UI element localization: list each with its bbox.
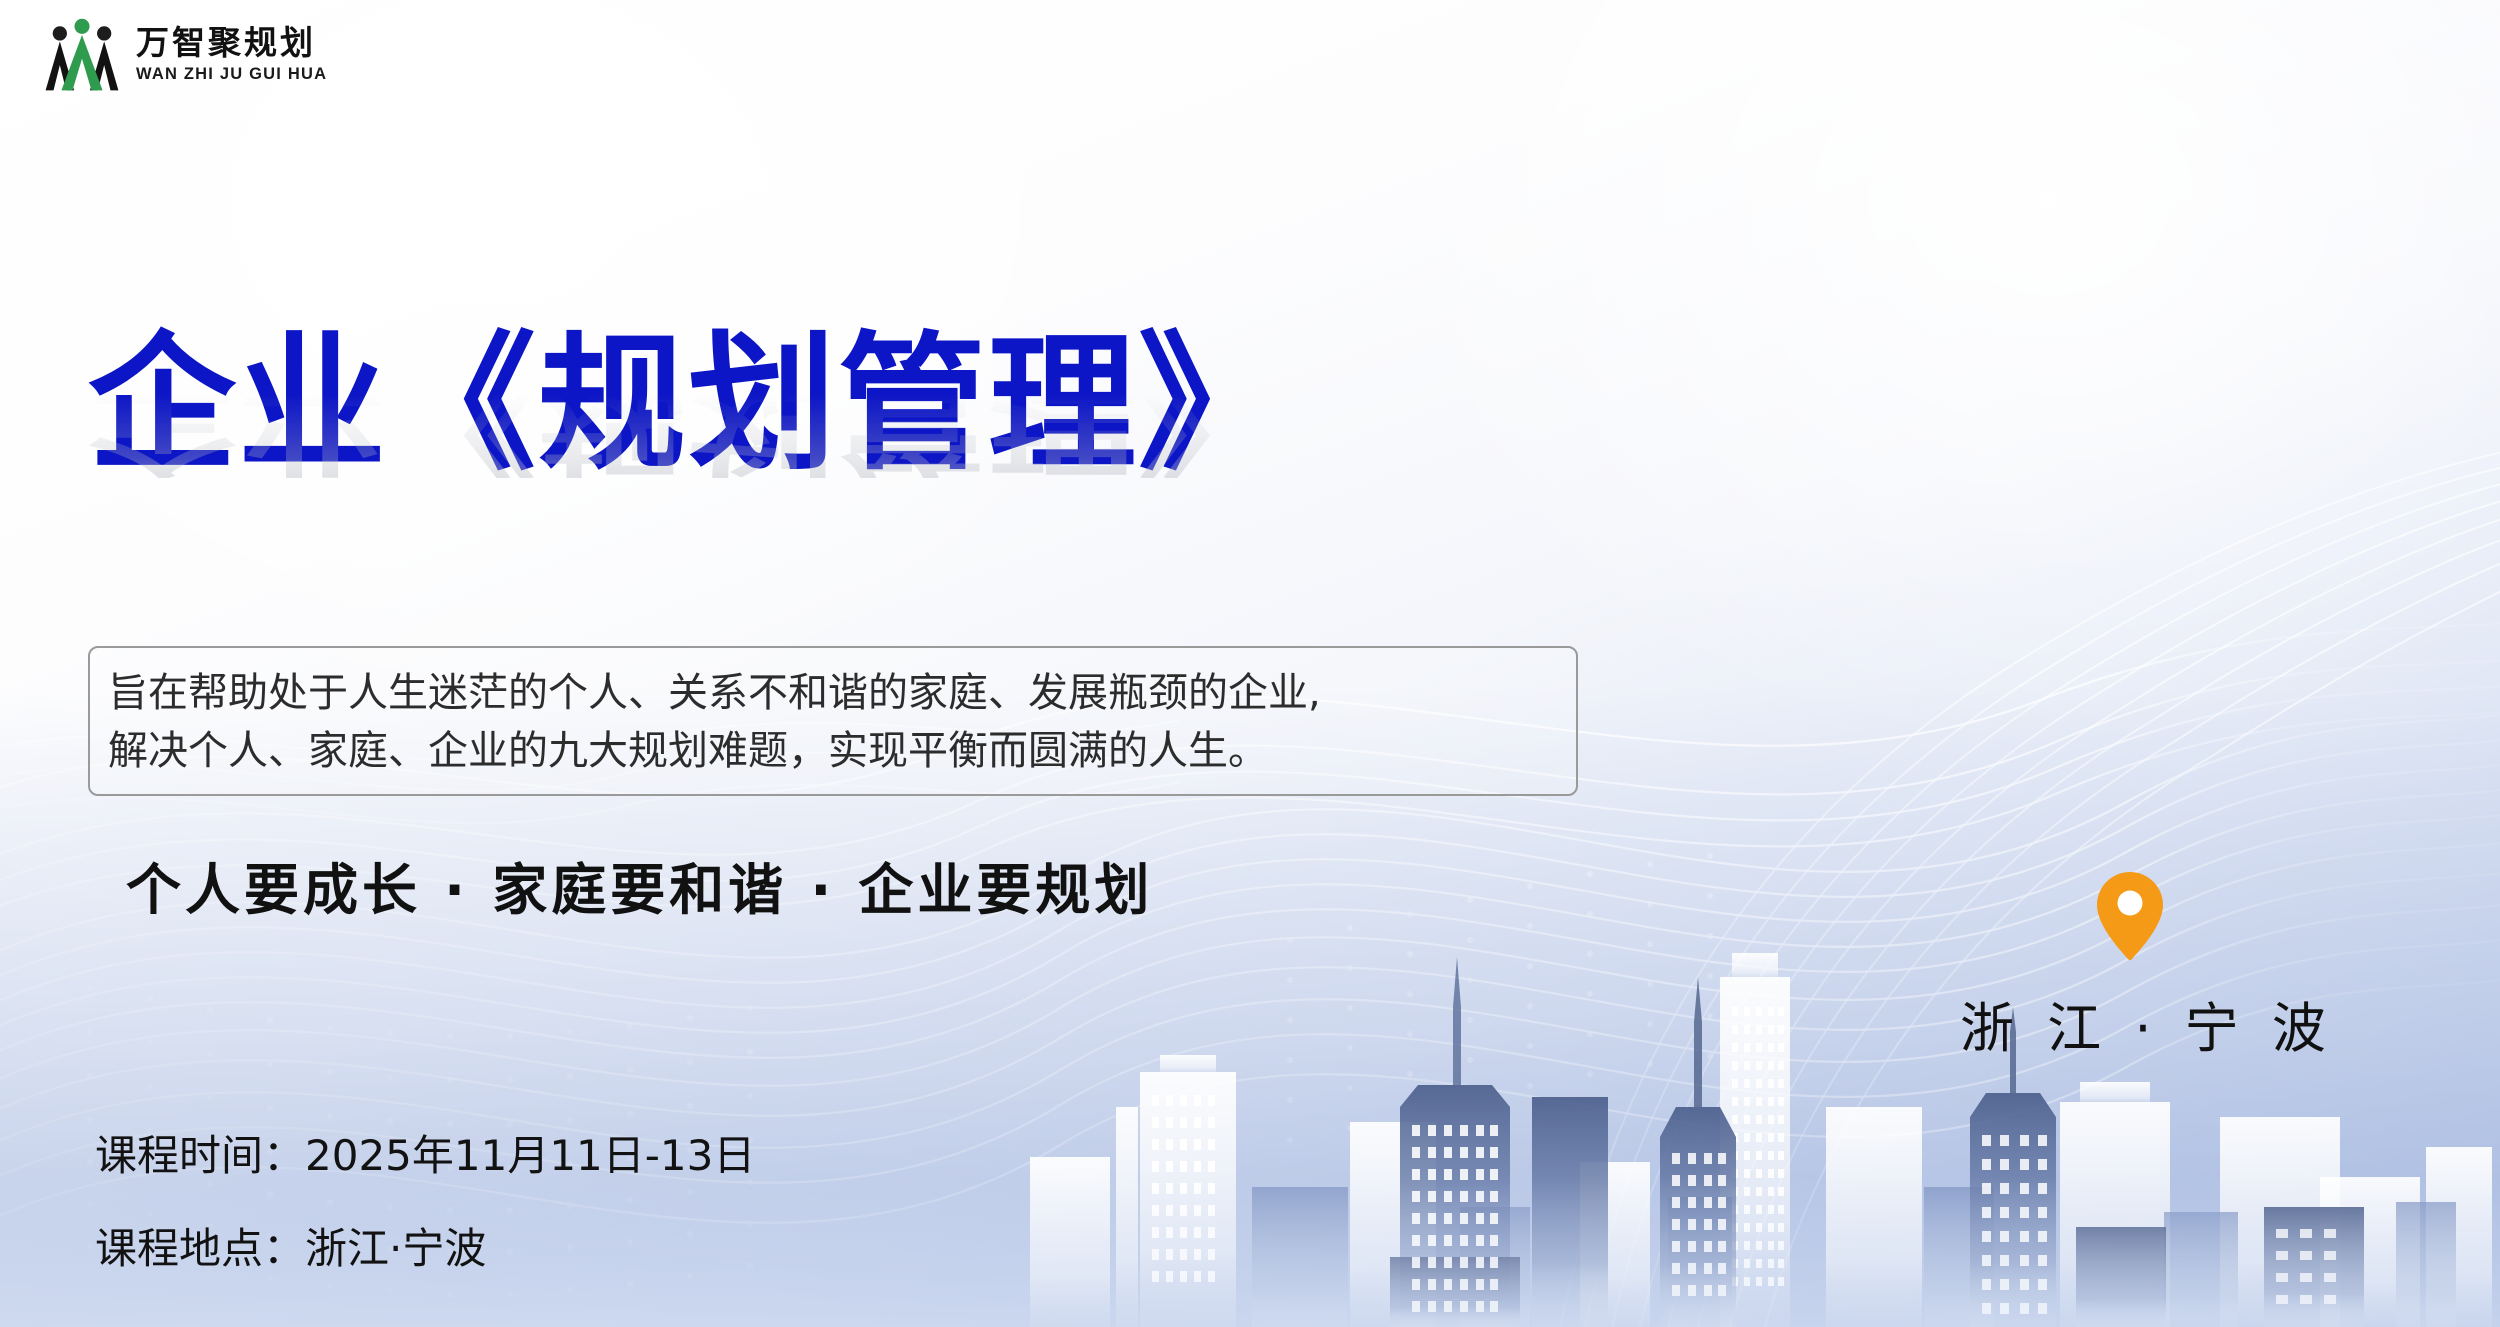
description-line-1: 旨在帮助处于人生迷茫的个人、关系不和谐的家庭、发展瓶颈的企业, bbox=[108, 664, 1558, 722]
location-badge: 浙 江 · 宁 波 bbox=[1960, 870, 2300, 1063]
poster-canvas: 万智聚规划 WAN ZHI JU GUI HUA 企业《规划管理》 企业《规划管… bbox=[0, 0, 2500, 1327]
hero-title-block: 企业《规划管理》 企业《规划管理》 bbox=[88, 330, 1288, 626]
course-place: 课程地点：浙江·宁波 bbox=[95, 1215, 755, 1276]
page-title-reflection: 企业《规划管理》 bbox=[88, 386, 1288, 478]
map-pin-icon bbox=[2094, 870, 2166, 962]
three-people-mountain-logo-icon bbox=[42, 16, 122, 92]
brand-name-cn: 万智聚规划 bbox=[136, 26, 327, 59]
brand-logo[interactable]: 万智聚规划 WAN ZHI JU GUI HUA bbox=[42, 16, 327, 92]
location-city-text: 浙 江 · 宁 波 bbox=[1960, 984, 2300, 1063]
brand-logo-text: 万智聚规划 WAN ZHI JU GUI HUA bbox=[136, 26, 327, 83]
brand-name-en: WAN ZHI JU GUI HUA bbox=[136, 66, 327, 83]
slogan-text: 个人要成长 · 家庭要和谐 · 企业要规划 bbox=[126, 845, 1153, 925]
course-info-block: 课程时间：2025年11月11日-13日 课程地点：浙江·宁波 bbox=[95, 1122, 755, 1308]
course-time: 课程时间：2025年11月11日-13日 bbox=[95, 1122, 755, 1183]
description-box: 旨在帮助处于人生迷茫的个人、关系不和谐的家庭、发展瓶颈的企业, 解决个人、家庭、… bbox=[88, 646, 1578, 796]
description-line-2: 解决个人、家庭、企业的九大规划难题，实现平衡而圆满的人生。 bbox=[108, 722, 1558, 780]
